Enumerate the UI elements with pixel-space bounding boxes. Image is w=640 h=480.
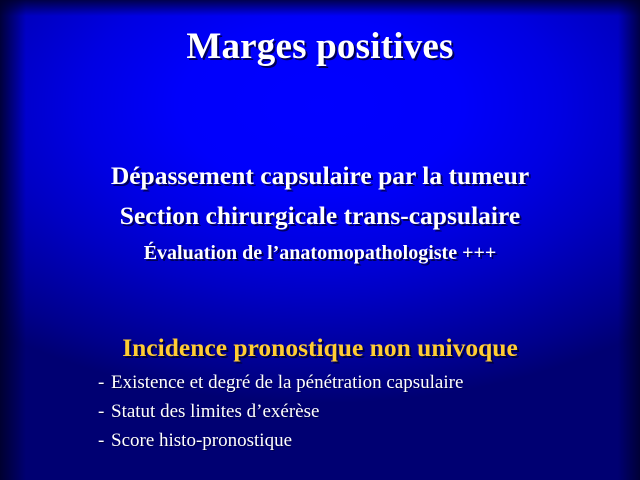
- subheading-evaluation-anatomopathologiste: Évaluation de l’anatomopathologiste +++: [0, 243, 640, 264]
- list-item-label: Existence et degré de la pénétration cap…: [111, 372, 463, 394]
- list-item: - Statut des limites d’exérèse: [98, 401, 463, 430]
- bullet-marker-icon: -: [98, 401, 111, 423]
- heading-incidence-pronostique: Incidence pronostique non univoque: [0, 335, 640, 362]
- list-item: - Score histo-pronostique: [98, 430, 463, 459]
- list-item-label: Score histo-pronostique: [111, 430, 292, 452]
- bullet-marker-icon: -: [98, 372, 111, 394]
- bullet-list: - Existence et degré de la pénétration c…: [98, 372, 463, 459]
- heading-section-chirurgicale: Section chirurgicale trans-capsulaire: [0, 203, 640, 230]
- list-item: - Existence et degré de la pénétration c…: [98, 372, 463, 401]
- presentation-slide: Marges positives Dépassement capsulaire …: [0, 0, 640, 480]
- slide-content: Marges positives Dépassement capsulaire …: [0, 0, 640, 480]
- slide-title: Marges positives: [0, 28, 640, 67]
- bullet-marker-icon: -: [98, 430, 111, 452]
- heading-depassement-capsulaire: Dépassement capsulaire par la tumeur: [0, 163, 640, 190]
- list-item-label: Statut des limites d’exérèse: [111, 401, 319, 423]
